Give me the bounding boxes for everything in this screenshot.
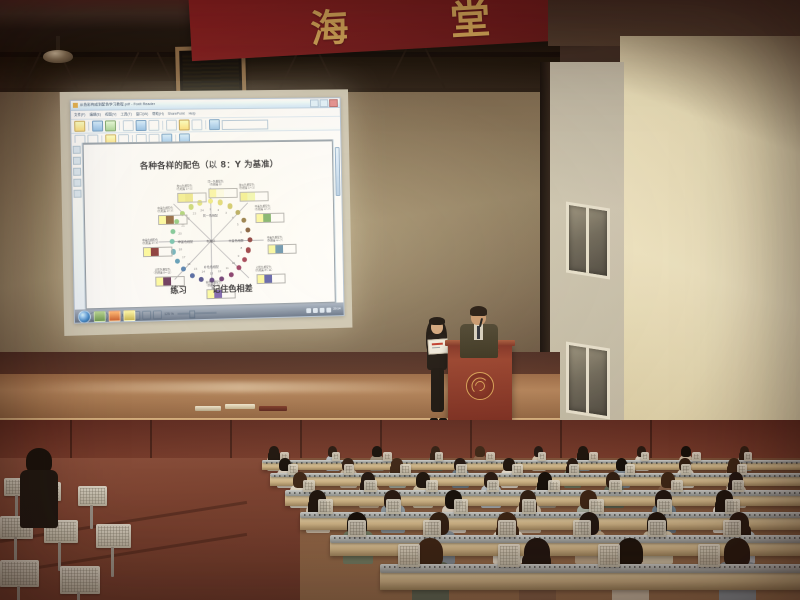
menu-item-view[interactable]: 视图(V)	[105, 112, 117, 117]
hue-number: 6	[240, 230, 242, 234]
chair-mesh	[428, 482, 436, 490]
truss-brace	[20, 52, 41, 92]
menu-item-sharepoint[interactable]: SharePoint	[168, 112, 185, 116]
color-swatch	[143, 248, 151, 257]
person-hair	[681, 446, 691, 457]
chair-mesh	[673, 482, 681, 490]
empty-chair	[78, 486, 107, 506]
sector-label: 同一色相配	[203, 212, 218, 217]
chair-mesh	[571, 466, 577, 472]
person-hair	[475, 446, 485, 457]
chair-mesh	[385, 454, 390, 459]
pdf-reader-window[interactable]: 从色彩构成到配色学习教程.pdf - Foxit Reader 文件(F) 编辑…	[70, 97, 345, 323]
person-torso	[20, 470, 58, 528]
chair-back	[318, 499, 333, 514]
chair-mesh	[98, 526, 129, 546]
volume-icon[interactable]	[313, 307, 318, 312]
chair-back	[487, 480, 499, 492]
chair-mesh	[500, 522, 514, 536]
hue-number: 14	[201, 270, 204, 274]
wall-seam	[70, 420, 72, 458]
hue-dot	[242, 257, 247, 262]
book-stack	[259, 406, 287, 411]
ime-icon[interactable]	[327, 307, 332, 312]
find-icon[interactable]	[209, 119, 220, 130]
hue-number: 13	[210, 271, 213, 275]
hue-dot	[181, 267, 186, 272]
toolbar-separator	[205, 120, 206, 129]
school-emblem-icon	[466, 372, 494, 400]
network-icon[interactable]	[306, 308, 311, 313]
callout-sublabel: （色相差 0）	[201, 184, 230, 188]
chair-back	[732, 480, 744, 492]
browser-icon[interactable]	[109, 310, 121, 321]
sector-label: 中差色相配	[178, 239, 193, 244]
hue-number: 23	[193, 211, 196, 215]
chair-back	[423, 520, 441, 538]
rail-perforation	[274, 475, 800, 477]
chair-mesh	[591, 501, 602, 512]
chair-back	[723, 520, 741, 538]
callout: 中差色相配色（色相差 4～7）	[248, 205, 277, 223]
chair-back	[383, 452, 392, 461]
open-icon[interactable]	[74, 121, 85, 132]
hue-number: 9	[238, 254, 240, 258]
floor-sheen	[30, 382, 450, 392]
color-swatch	[275, 245, 282, 254]
chair-mesh	[650, 522, 664, 536]
callout-group: 类似色相配色（色相差 1～3）同一色相配色（色相差 0）类似色相配色（色相差 1…	[136, 181, 282, 183]
hue-number: 20	[178, 231, 181, 235]
taskbar-clock[interactable]: 20:14	[333, 308, 340, 312]
menu-item-window[interactable]: 窗口(W)	[136, 112, 149, 117]
hue-dot	[227, 204, 232, 209]
color-swatch	[247, 192, 254, 200]
chair-back	[486, 452, 495, 461]
book-stack	[225, 404, 255, 409]
chair-back	[625, 464, 635, 474]
wall-seam	[300, 420, 302, 458]
explorer-icon[interactable]	[94, 310, 106, 321]
color-swatch	[151, 248, 159, 257]
certificate-title	[432, 343, 443, 346]
hair	[470, 306, 487, 316]
chair-mesh	[388, 501, 399, 512]
hue-dot	[228, 272, 233, 277]
chair-mesh	[489, 482, 497, 490]
callout: 类似色相配色（色相差 1～3）	[170, 185, 200, 203]
certificate-line	[432, 347, 440, 349]
chair-back	[641, 452, 650, 461]
chair-mesh	[488, 454, 493, 459]
sector-label: 补色色相配	[204, 264, 219, 269]
comment-icon[interactable]	[73, 190, 81, 198]
truss-brace	[156, 52, 177, 92]
toolbar-separator	[88, 122, 89, 131]
bookmark-icon[interactable]	[73, 146, 81, 154]
right-cream-wall	[620, 36, 800, 428]
chair-mesh	[591, 454, 596, 459]
chair-mesh	[402, 466, 408, 472]
maximize-button[interactable]	[320, 99, 329, 107]
chair-mesh	[305, 482, 313, 490]
chair-mesh	[725, 522, 739, 536]
minimize-button[interactable]	[310, 99, 319, 107]
color-swatch	[159, 216, 167, 225]
chair-mesh	[458, 466, 464, 472]
chair-back	[681, 464, 691, 474]
windows-start-icon[interactable]	[78, 310, 91, 323]
color-swatch-pair	[142, 246, 172, 257]
banner-glyph-1: 海	[309, 0, 350, 53]
chair-mesh	[611, 482, 619, 490]
callout: 类似色相配色（色相差 1～3）	[232, 184, 261, 202]
chair-mesh	[425, 522, 439, 536]
chair-back	[498, 544, 520, 566]
chair-back	[648, 520, 666, 538]
chair-back	[598, 544, 620, 566]
hue-number: 4	[232, 216, 234, 220]
chair-back	[398, 544, 420, 566]
wheel-center-label: 色相环	[206, 238, 215, 243]
hue-circle: 123456789101112131415161718192021222324色…	[168, 198, 253, 285]
chair-back	[426, 480, 438, 492]
callout: 同一色相配色（色相差 0）	[201, 180, 230, 198]
hue-number: 11	[226, 266, 229, 270]
chair-mesh	[700, 546, 718, 564]
chair-back	[332, 452, 341, 461]
email-icon[interactable]	[123, 120, 134, 131]
callout-sublabel: （色相差 4～7）	[135, 242, 165, 246]
wall-seam	[560, 420, 562, 458]
chair-back	[512, 464, 522, 474]
chair-back	[698, 544, 720, 566]
scrollbar-thumb[interactable]	[335, 147, 341, 196]
window-controls[interactable]	[310, 99, 338, 107]
chair-back	[456, 464, 466, 474]
lamp-shade	[43, 50, 73, 63]
empty-chair	[60, 566, 100, 594]
chair-mesh	[514, 466, 520, 472]
menu-item-help[interactable]: 帮助(H)	[152, 111, 164, 116]
chair-back	[569, 464, 579, 474]
sector-label: 中差色相配	[229, 238, 244, 243]
desk-row	[380, 570, 800, 590]
color-swatch	[216, 189, 223, 198]
hue-dot	[246, 248, 251, 253]
hue-number: 12	[218, 270, 221, 274]
desk-rail	[380, 564, 800, 574]
chair-mesh	[456, 501, 467, 512]
hue-number: 2	[218, 208, 220, 212]
color-swatch	[263, 214, 270, 223]
callout-sublabel: （色相差 1～3）	[170, 188, 199, 192]
slide-title: 各种各样的配色（以 8：Y 为基准）	[84, 157, 332, 173]
hue-number: 24	[200, 208, 203, 212]
chair-mesh	[524, 501, 535, 512]
chair-mesh	[600, 546, 618, 564]
chair-mesh	[727, 501, 738, 512]
chair-mesh	[540, 454, 545, 459]
chair-mesh	[334, 454, 339, 459]
chair-mesh	[734, 482, 742, 490]
search-input[interactable]	[222, 119, 269, 129]
footer-remember: 记住色相差	[212, 282, 253, 295]
hue-dot	[189, 273, 194, 278]
hue-dot	[175, 259, 180, 264]
hair-front	[429, 317, 445, 325]
banner-glyph-2: 堂	[448, 0, 491, 47]
chair-mesh	[627, 466, 633, 472]
speaker-man	[458, 306, 500, 366]
chair-mesh	[683, 466, 689, 472]
hand-tool-icon[interactable]	[148, 120, 159, 131]
thumbnail-icon[interactable]	[73, 157, 81, 165]
chair-mesh	[643, 454, 648, 459]
chair-mesh	[500, 546, 518, 564]
tie	[477, 326, 480, 339]
menu-item-tools[interactable]: 工具(T)	[120, 112, 131, 117]
hue-number: 3	[225, 211, 227, 215]
hue-number: 18	[179, 248, 182, 252]
close-button[interactable]	[329, 99, 338, 107]
chair-mesh	[366, 482, 374, 490]
person-hair	[617, 538, 643, 567]
chair-mesh	[739, 466, 745, 472]
empty-chair	[96, 524, 131, 548]
hue-dot	[188, 204, 193, 209]
chair-back	[498, 520, 516, 538]
chair-mesh	[346, 466, 352, 472]
chair-mesh	[62, 568, 98, 592]
menu-item-edit[interactable]: 编辑(E)	[89, 112, 101, 117]
chair-back	[386, 499, 401, 514]
chair-back	[573, 520, 591, 538]
document-area: 各种各样的配色（以 8：Y 为基准） 123456789101112131415…	[72, 139, 344, 310]
window-title: 从色彩构成到配色学习教程.pdf - Foxit Reader	[80, 102, 155, 108]
chair-mesh	[290, 466, 296, 472]
select-tool-icon[interactable]	[166, 120, 177, 131]
chair-back	[454, 499, 469, 514]
chair-back	[538, 452, 547, 461]
app-icon	[73, 103, 78, 108]
chair-mesh	[437, 454, 442, 459]
color-swatch-pair	[255, 212, 284, 223]
audience-back-wall	[0, 420, 800, 458]
lecture-hall-photo: 海 堂 从色彩构成到配色学习教程.pdf - Foxit Reader	[0, 0, 800, 600]
color-swatch	[185, 193, 192, 202]
chair-back	[589, 452, 598, 461]
wall-seam	[150, 420, 152, 458]
battery-icon[interactable]	[320, 307, 325, 312]
callout: 中差色相配色（色相差 4～7）	[260, 236, 289, 254]
snapshot-icon[interactable]	[136, 120, 147, 131]
color-swatch-pair	[158, 214, 188, 225]
system-tray[interactable]: 20:14	[306, 307, 340, 313]
chair-back	[744, 452, 753, 461]
book-stack	[195, 406, 221, 411]
chair-back	[435, 452, 444, 461]
footer-practice: 练习	[170, 284, 187, 296]
chair-back	[522, 499, 537, 514]
projection-screen: 从色彩构成到配色学习教程.pdf - Foxit Reader 文件(F) 编辑…	[60, 89, 353, 336]
chair-mesh	[400, 546, 418, 564]
callout-sublabel: （色相差 1～3）	[232, 187, 261, 191]
wall-seam	[230, 420, 232, 458]
window-mullion	[586, 348, 589, 413]
zoom-tool-icon[interactable]	[179, 119, 190, 130]
chair-back	[692, 452, 701, 461]
pdf-page: 各种各样的配色（以 8：Y 为基准） 123456789101112131415…	[84, 141, 335, 308]
hue-number: 1	[209, 207, 211, 211]
color-swatch-pair	[239, 191, 268, 202]
hue-dot	[218, 200, 223, 205]
layer-icon[interactable]	[73, 168, 81, 176]
toolbar-separator	[162, 121, 163, 130]
stacked-books	[195, 404, 305, 416]
wall-seam	[470, 420, 472, 458]
attachment-icon[interactable]	[73, 179, 81, 187]
chair-mesh	[694, 454, 699, 459]
hue-number: 17	[182, 255, 185, 259]
chair-back	[609, 480, 621, 492]
upper-window	[566, 202, 610, 280]
chair-leg	[111, 547, 114, 577]
chair-mesh	[80, 488, 105, 504]
lower-window	[566, 342, 610, 420]
desk-row	[270, 476, 800, 486]
callout-sublabel: （色相差 4～7）	[248, 208, 277, 212]
hue-number: 5	[237, 222, 239, 226]
callout-sublabel: （色相差 4～7）	[260, 239, 289, 243]
audience-area	[0, 420, 800, 600]
hue-number: 16	[187, 262, 190, 266]
hue-dot	[241, 218, 246, 223]
hue-number: 10	[232, 261, 235, 265]
chair-mesh	[575, 522, 589, 536]
callout: 中差色相配色（色相差 4～7）	[151, 207, 181, 225]
rail-perforation	[384, 566, 800, 568]
chair-back	[344, 464, 354, 474]
color-swatch-pair	[267, 244, 296, 255]
menu-item-file[interactable]: 文件(F)	[74, 112, 86, 117]
chair-leg	[77, 592, 80, 600]
hue-dot	[235, 210, 240, 215]
print-icon[interactable]	[105, 120, 116, 131]
pendant-lamp-icon	[56, 36, 60, 52]
legs	[431, 368, 444, 412]
save-icon[interactable]	[92, 121, 103, 132]
chair-mesh	[320, 501, 331, 512]
chair-back	[548, 480, 560, 492]
chair-mesh	[746, 454, 751, 459]
chair-mesh	[350, 522, 364, 536]
chair-back	[348, 520, 366, 538]
chair-leg	[90, 505, 93, 529]
pdf-icon[interactable]	[123, 310, 135, 321]
wall-seam	[650, 420, 652, 458]
callout: 中差色相配色（色相差 4～7）	[135, 239, 165, 257]
empty-chair	[0, 560, 39, 587]
chair-back	[671, 480, 683, 492]
person-hair	[372, 446, 382, 457]
toolbar-separator	[119, 121, 120, 130]
chair-back	[364, 480, 376, 492]
person-hair	[417, 538, 443, 567]
chair-mesh	[550, 482, 558, 490]
audience-person-left	[18, 448, 60, 540]
text-tool-icon[interactable]	[191, 119, 202, 130]
chair-leg	[17, 586, 20, 600]
hue-number: 8	[241, 246, 243, 250]
color-swatch	[166, 216, 174, 225]
hue-number: 15	[194, 267, 197, 271]
rail-perforation	[304, 514, 800, 516]
window-mullion	[586, 208, 589, 273]
person-hair	[724, 538, 750, 567]
menu-item-help-en[interactable]: Help	[189, 112, 196, 116]
callout-sublabel: （色相差 4～7）	[151, 210, 180, 214]
hue-dot	[246, 227, 251, 232]
chair-back	[400, 464, 410, 474]
chair-mesh	[659, 501, 670, 512]
chair-mesh	[2, 562, 37, 585]
truss-brace	[118, 52, 139, 92]
